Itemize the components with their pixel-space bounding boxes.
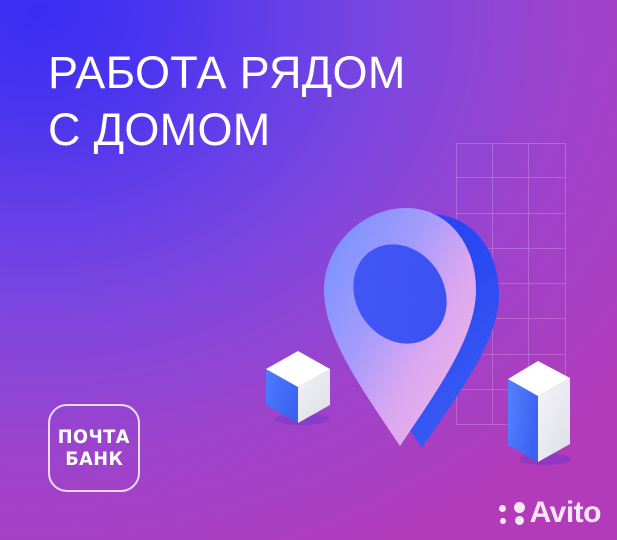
grid-cell <box>529 143 566 178</box>
avito-dots-icon <box>499 502 525 525</box>
avito-brand-label: Avito <box>530 498 601 528</box>
map-pin-icon <box>318 198 508 456</box>
logo-line-1: ПОЧТА <box>58 427 130 448</box>
avito-watermark: Avito <box>499 498 601 528</box>
grid-cell <box>529 178 566 213</box>
grid-cell <box>529 319 566 354</box>
grid-cell <box>529 249 566 284</box>
grid-cell <box>493 143 530 178</box>
pochta-bank-logo: ПОЧТА БАНК <box>48 404 140 492</box>
page-title: РАБОТА РЯДОМ С ДОМОМ <box>48 44 518 158</box>
grid-cell <box>529 284 566 319</box>
grid-cell <box>529 214 566 249</box>
grid-cell <box>456 143 493 178</box>
logo-line-2: БАНК <box>65 449 123 470</box>
iso-tower-icon <box>505 359 573 465</box>
promo-banner: РАБОТА РЯДОМ С ДОМОМ <box>0 0 617 540</box>
